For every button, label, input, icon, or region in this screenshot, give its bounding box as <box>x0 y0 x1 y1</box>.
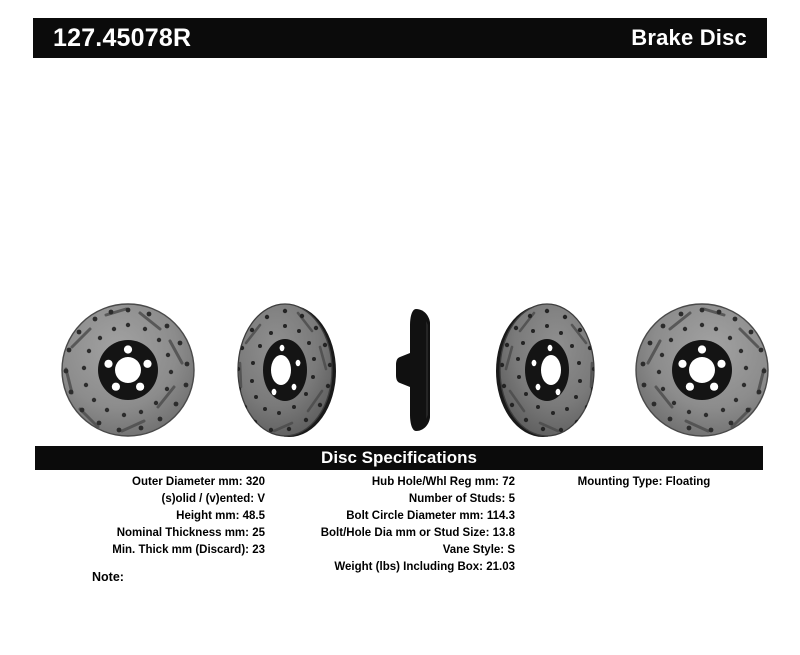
spec-value: 114.3 <box>487 510 515 522</box>
spec-value: 320 <box>246 476 265 488</box>
spec-section-bar: Disc Specifications <box>35 446 763 470</box>
rotor-edge-profile-image <box>382 295 454 445</box>
spec-label: (s)olid / (v)ented: <box>161 493 254 505</box>
spec-column-right: Mounting Type: Floating <box>525 474 763 491</box>
spec-label: Outer Diameter mm: <box>132 476 243 488</box>
spec-row: Min. Thick mm (Discard): 23 <box>35 542 265 559</box>
spec-row: Nominal Thickness mm: 25 <box>35 525 265 542</box>
spec-row: Hub Hole/Whl Reg mm: 72 <box>265 474 515 491</box>
spec-label: Bolt/Hole Dia mm or Stud Size: <box>321 527 490 539</box>
spec-value: 23 <box>252 544 265 556</box>
spec-value: 48.5 <box>243 510 265 522</box>
spec-label: Height mm: <box>176 510 239 522</box>
spec-value: 13.8 <box>493 527 515 539</box>
spec-row: Outer Diameter mm: 320 <box>35 474 265 491</box>
page-title: Brake Disc <box>631 25 747 51</box>
spec-row: Vane Style: S <box>265 542 515 559</box>
rotor-angled-left-image <box>210 295 360 445</box>
spec-value: S <box>507 544 515 556</box>
rotor-angled-right-image <box>472 295 622 445</box>
rotor-face-right-image <box>622 295 782 445</box>
spec-row: Mounting Type: Floating <box>525 474 763 491</box>
spec-label: Number of Studs: <box>409 493 505 505</box>
spec-table: Outer Diameter mm: 320 (s)olid / (v)ente… <box>35 474 763 584</box>
spec-row: Bolt Circle Diameter mm: 114.3 <box>265 508 515 525</box>
spec-section-title: Disc Specifications <box>321 448 477 468</box>
spec-label: Mounting Type: <box>578 476 663 488</box>
header-bar: 127.45078R Brake Disc <box>33 18 767 58</box>
spec-row: Number of Studs: 5 <box>265 491 515 508</box>
spec-value: 21.03 <box>486 561 515 573</box>
spec-row: Height mm: 48.5 <box>35 508 265 525</box>
note-label: Note: <box>92 570 124 584</box>
spec-label: Min. Thick mm (Discard): <box>112 544 249 556</box>
rotor-face-left-image <box>48 295 208 445</box>
spec-value: Floating <box>666 476 711 488</box>
spec-label: Hub Hole/Whl Reg mm: <box>372 476 499 488</box>
spec-label: Nominal Thickness mm: <box>117 527 249 539</box>
spec-value: 25 <box>252 527 265 539</box>
spec-label: Vane Style: <box>443 544 504 556</box>
spec-row: Bolt/Hole Dia mm or Stud Size: 13.8 <box>265 525 515 542</box>
spec-value: 5 <box>509 493 515 505</box>
spec-label: Bolt Circle Diameter mm: <box>346 510 483 522</box>
spec-value: V <box>257 493 265 505</box>
product-image-strip <box>30 295 770 445</box>
spec-value: 72 <box>502 476 515 488</box>
spec-column-middle: Hub Hole/Whl Reg mm: 72 Number of Studs:… <box>265 474 515 576</box>
spec-label: Weight (lbs) Including Box: <box>334 561 483 573</box>
spec-row: (s)olid / (v)ented: V <box>35 491 265 508</box>
note-field: Note: <box>92 570 327 584</box>
spec-column-left: Outer Diameter mm: 320 (s)olid / (v)ente… <box>35 474 265 559</box>
part-number: 127.45078R <box>53 24 191 53</box>
